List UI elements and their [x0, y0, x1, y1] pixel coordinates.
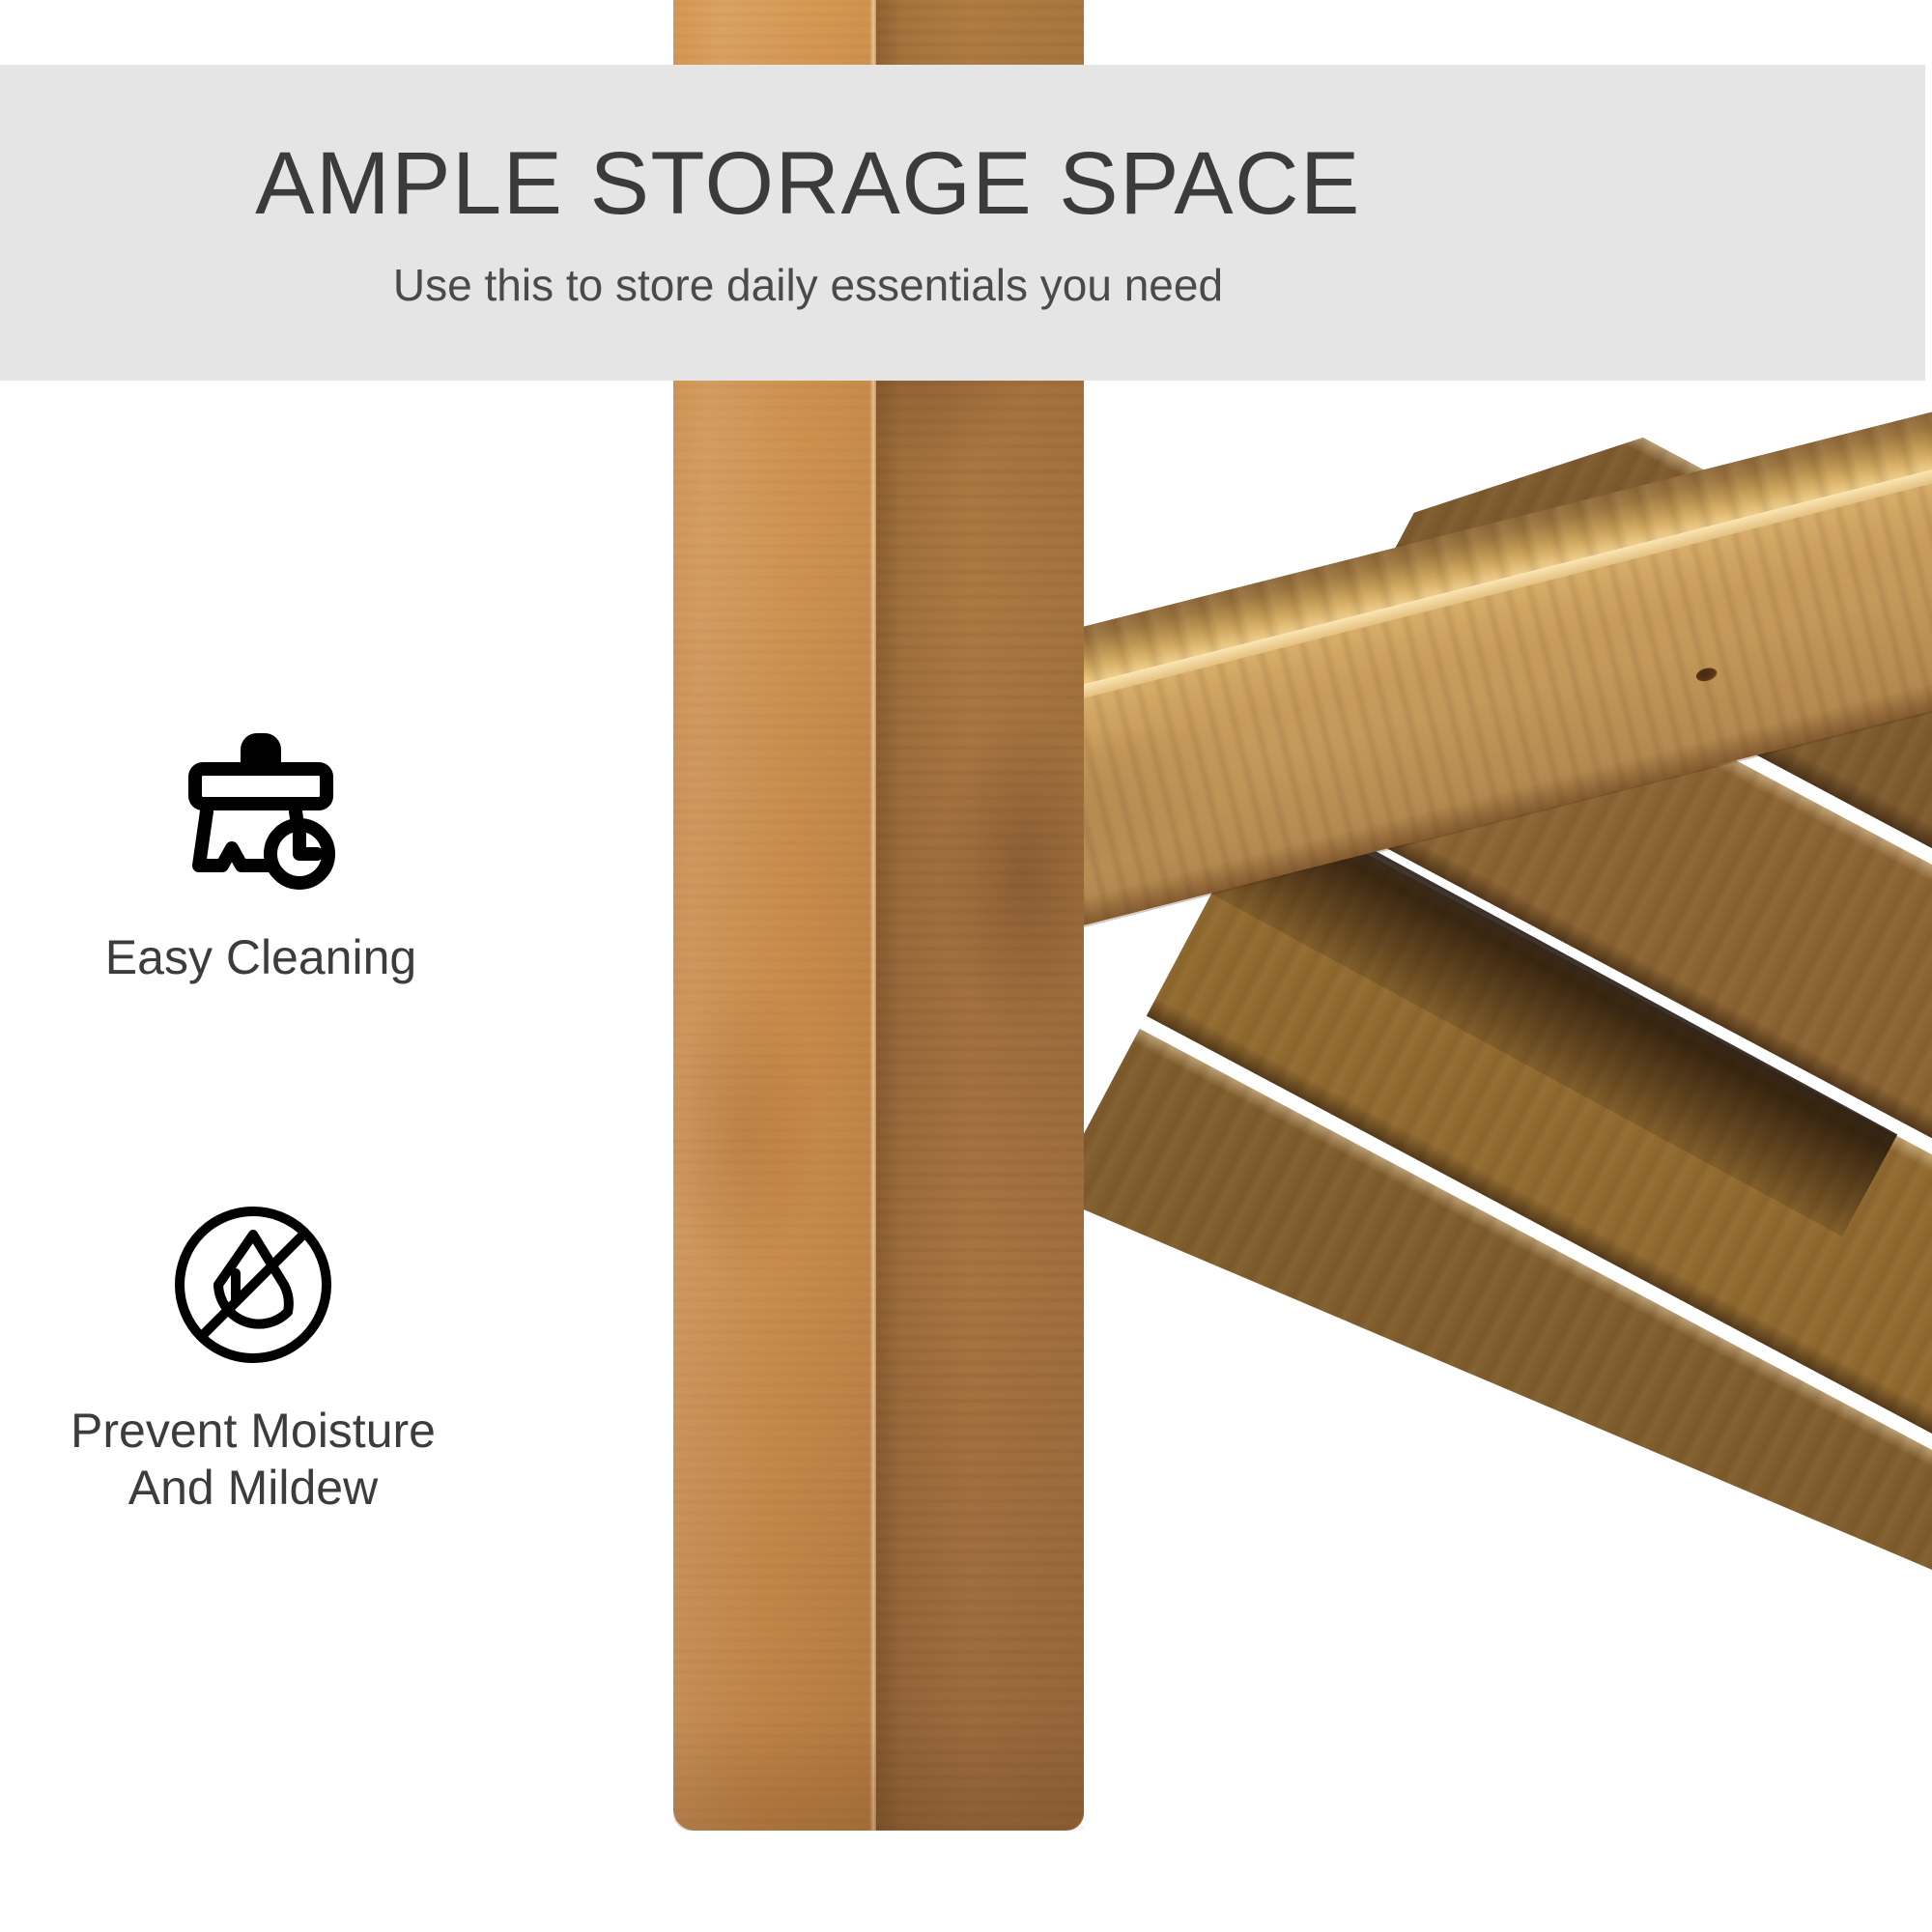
- broom-clock-icon: [164, 715, 357, 908]
- headline-banner: AMPLE STORAGE SPACE Use this to store da…: [0, 65, 1925, 381]
- feature-label: Prevent Moisture And Mildew: [71, 1403, 436, 1517]
- page-title: AMPLE STORAGE SPACE: [255, 139, 1361, 228]
- page-subtitle: Use this to store daily essentials you n…: [393, 263, 1223, 307]
- product-feature-image: AMPLE STORAGE SPACE Use this to store da…: [0, 0, 1932, 1932]
- no-water-droplet-icon: [156, 1188, 350, 1381]
- background-mask-bottom: [580, 1829, 1179, 1932]
- feature-label: Easy Cleaning: [105, 929, 416, 986]
- feature-prevent-moisture: Prevent Moisture And Mildew: [0, 1188, 553, 1517]
- feature-easy-cleaning: Easy Cleaning: [0, 715, 560, 986]
- background-mask-top-right: [1005, 0, 1932, 68]
